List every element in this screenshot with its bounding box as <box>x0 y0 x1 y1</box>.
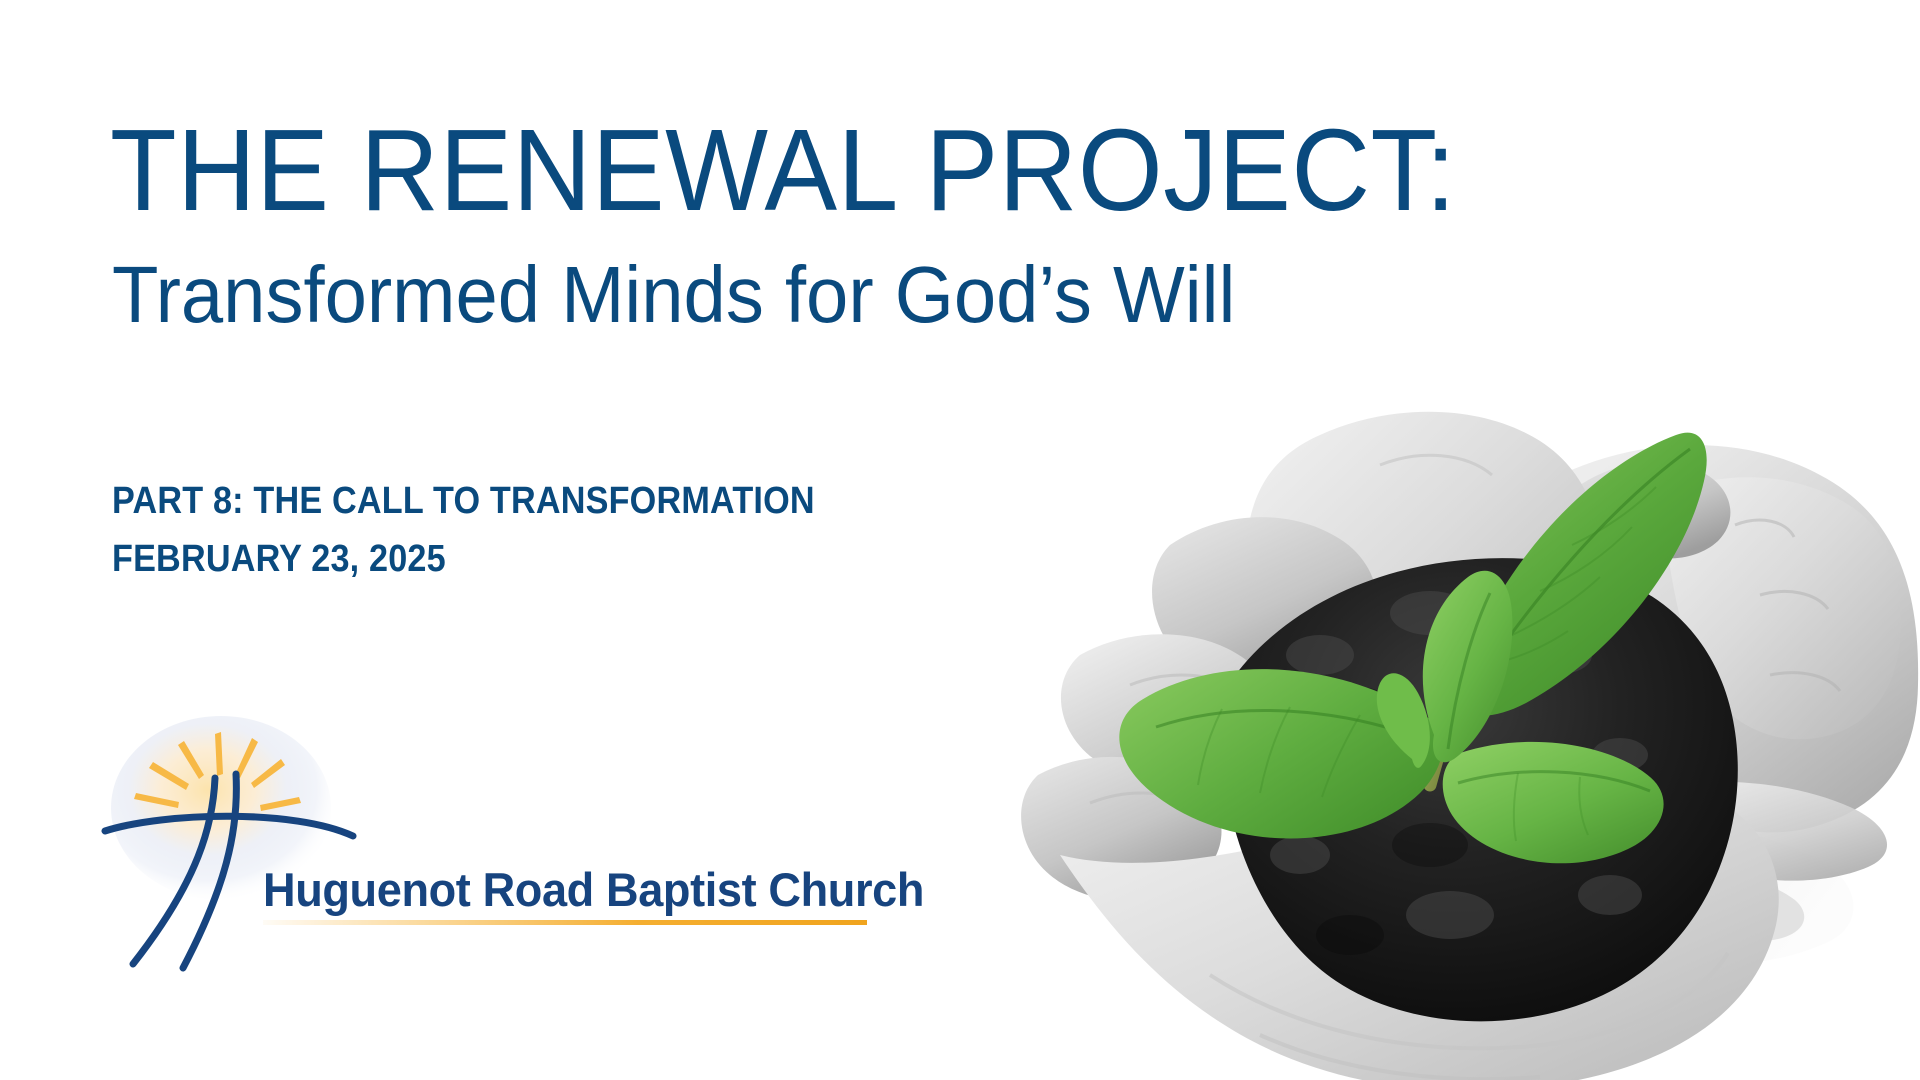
cross-and-road-icon <box>95 712 775 972</box>
slide-subtitle: Transformed Minds for God’s Will <box>112 255 1235 335</box>
slide-canvas: THE RENEWAL PROJECT: Transformed Minds f… <box>0 0 1920 1080</box>
hands-holding-seedling-photo <box>960 355 1920 1080</box>
slide-title: THE RENEWAL PROJECT: <box>110 112 1456 228</box>
sermon-date-label: FEBRUARY 23, 2025 <box>112 540 446 578</box>
series-part-label: PART 8: THE CALL TO TRANSFORMATION <box>112 482 815 520</box>
logo-underline <box>263 920 867 925</box>
logo-wordmark: Huguenot Road Baptist Church <box>263 862 924 917</box>
church-logo: Huguenot Road Baptist Church <box>95 712 775 972</box>
